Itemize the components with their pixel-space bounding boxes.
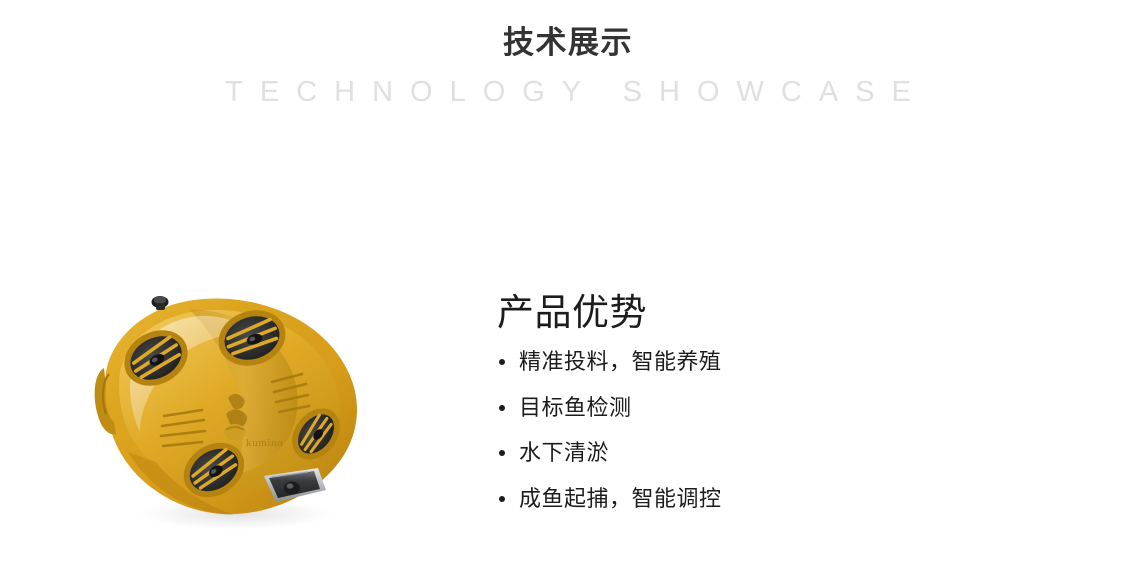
technology-showcase-slide: 技术展示 TECHNOLOGY SHOWCASE — [0, 0, 1136, 583]
bullet-icon — [499, 496, 505, 502]
advantage-item-2: 目标鱼检测 — [497, 394, 917, 422]
advantages-heading: 产品优势 — [497, 290, 917, 336]
advantage-item-label: 成鱼起捕，智能调控 — [519, 486, 722, 511]
bullet-icon — [499, 450, 505, 456]
page-subtitle: TECHNOLOGY SHOWCASE — [0, 61, 1136, 110]
bullet-icon — [499, 405, 505, 411]
advantage-item-label: 目标鱼检测 — [519, 395, 632, 420]
advantage-item-label: 水下清淤 — [519, 440, 609, 465]
bullet-icon — [499, 359, 505, 365]
content-area: kumino 产品优势 — [0, 150, 1136, 583]
svg-text:kumino: kumino — [246, 437, 283, 449]
advantages-list: 精准投料，智能养殖 目标鱼检测 水下清淤 成鱼起捕，智能调控 — [497, 348, 917, 512]
advantage-item-1: 精准投料，智能养殖 — [497, 348, 917, 376]
product-image: kumino — [68, 276, 388, 536]
page-title: 技术展示 — [0, 0, 1136, 61]
advantage-item-4: 成鱼起捕，智能调控 — [497, 485, 917, 513]
advantage-item-3: 水下清淤 — [497, 439, 917, 467]
product-advantages-block: 产品优势 精准投料，智能养殖 目标鱼检测 水下清淤 成鱼起捕，智能调控 — [497, 290, 917, 512]
underwater-rov-drone-icon: kumino — [68, 276, 388, 536]
advantage-item-label: 精准投料，智能养殖 — [519, 349, 722, 374]
section-header: 技术展示 TECHNOLOGY SHOWCASE — [0, 0, 1136, 110]
